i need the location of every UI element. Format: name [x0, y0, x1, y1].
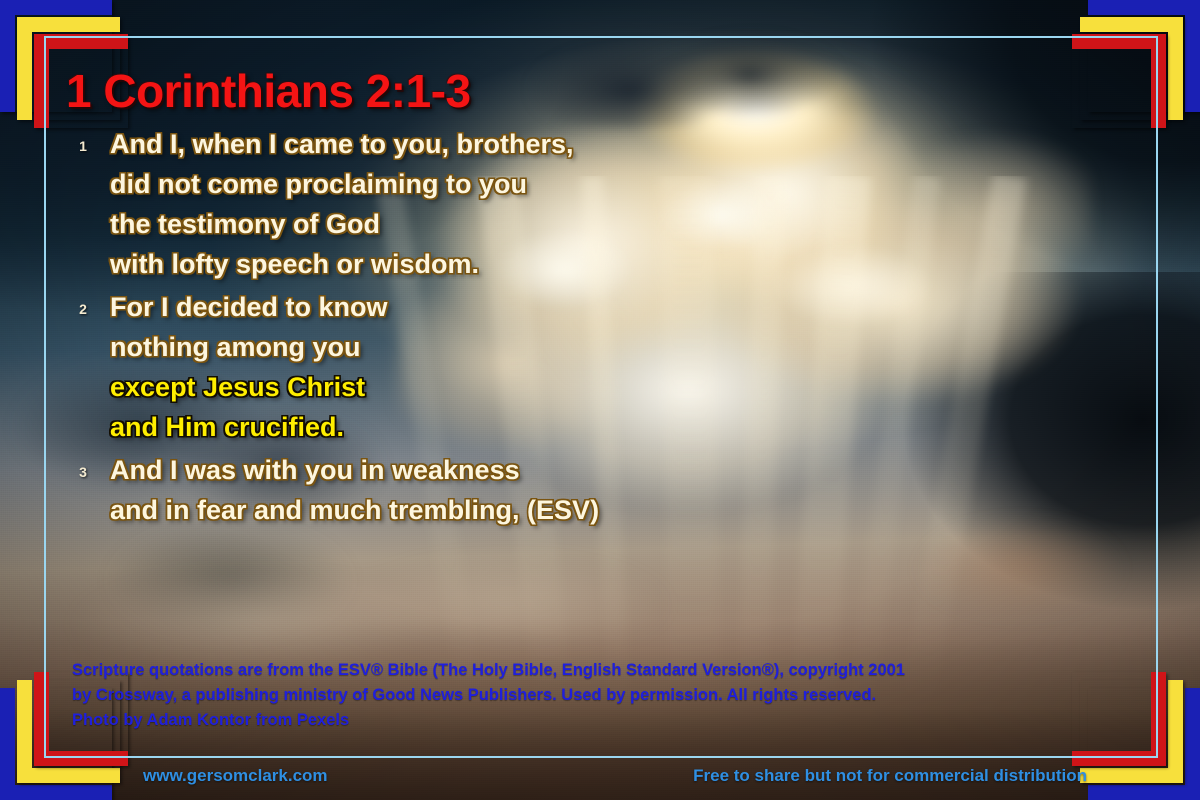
- verse-line: 2For I decided to know: [66, 287, 388, 327]
- verse-block: 1And I, when I came to you, brothers,did…: [66, 124, 574, 284]
- verse-line: and Him crucified.: [66, 407, 388, 447]
- verse-block: 3And I was with you in weaknessand in fe…: [66, 450, 599, 530]
- verse-line: with lofty speech or wisdom.: [66, 244, 574, 284]
- verse-line: 1And I, when I came to you, brothers,: [66, 124, 574, 164]
- verse-text: with lofty speech or wisdom.: [110, 244, 479, 284]
- slide-content: 1 Corinthians 2:1-3 1And I, when I came …: [0, 0, 1200, 800]
- verse-line: nothing among you: [66, 327, 388, 367]
- verse-text: And I was with you in weakness: [110, 450, 520, 490]
- copyright-line: Scripture quotations are from the ESV® B…: [72, 658, 1082, 683]
- page-title: 1 Corinthians 2:1-3: [66, 64, 471, 118]
- footer-usage-notice: Free to share but not for commercial dis…: [693, 766, 1087, 786]
- verse-block: 2For I decided to knownothing among youe…: [66, 287, 388, 447]
- verse-text: and Him crucified.: [110, 407, 344, 447]
- scripture-slide: 1 Corinthians 2:1-3 1And I, when I came …: [0, 0, 1200, 800]
- verse-line: did not come proclaiming to you: [66, 164, 574, 204]
- verse-number: 3: [66, 452, 100, 492]
- footer-website[interactable]: www.gersomclark.com: [143, 766, 328, 786]
- verse-number: 2: [66, 289, 100, 329]
- verse-text: and in fear and much trembling, (ESV): [110, 490, 599, 530]
- verse-text: the testimony of God: [110, 204, 380, 244]
- verse-line: 3And I was with you in weakness: [66, 450, 599, 490]
- copyright-line: by Crossway, a publishing ministry of Go…: [72, 683, 1082, 708]
- verse-text: For I decided to know: [110, 287, 388, 327]
- copyright-line: Photo by Adam Kontor from Pexels: [72, 708, 1082, 733]
- verse-line: except Jesus Christ: [66, 367, 388, 407]
- verse-text: except Jesus Christ: [110, 367, 365, 407]
- verse-text: did not come proclaiming to you: [110, 164, 527, 204]
- verse-line: and in fear and much trembling, (ESV): [66, 490, 599, 530]
- verse-text: nothing among you: [110, 327, 360, 367]
- verse-line: the testimony of God: [66, 204, 574, 244]
- copyright-notice: Scripture quotations are from the ESV® B…: [72, 658, 1082, 733]
- verse-text: And I, when I came to you, brothers,: [110, 124, 574, 164]
- verse-number: 1: [66, 126, 100, 166]
